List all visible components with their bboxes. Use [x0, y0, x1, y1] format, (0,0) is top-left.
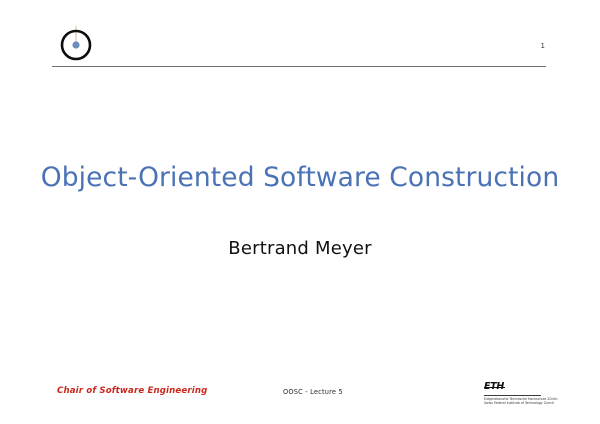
- ringed-dot-logo-icon: [57, 25, 95, 63]
- slide-body: Object-Oriented Software Construction Be…: [0, 72, 600, 352]
- eth-logo-divider: [484, 395, 541, 396]
- footer-lecture-label: OOSC - Lecture 5: [283, 388, 343, 396]
- author-name: Bertrand Meyer: [0, 238, 600, 259]
- eth-subtitle-english: Swiss Federal Institute of Technology Zu…: [484, 401, 544, 406]
- slide-footer: Chair of Software Engineering OOSC - Lec…: [0, 352, 600, 424]
- slide-header: 1: [0, 0, 600, 72]
- header-divider: [52, 66, 546, 67]
- eth-logo: ETH Eidgenössische Technische Hochschule…: [484, 374, 544, 405]
- eth-wordmark: ETH: [484, 382, 504, 392]
- page-number: 1: [541, 43, 545, 50]
- slide: 1 Object-Oriented Software Construction …: [0, 0, 600, 424]
- footer-chair-label: Chair of Software Engineering: [57, 386, 207, 396]
- page-title: Object-Oriented Software Construction: [0, 162, 600, 193]
